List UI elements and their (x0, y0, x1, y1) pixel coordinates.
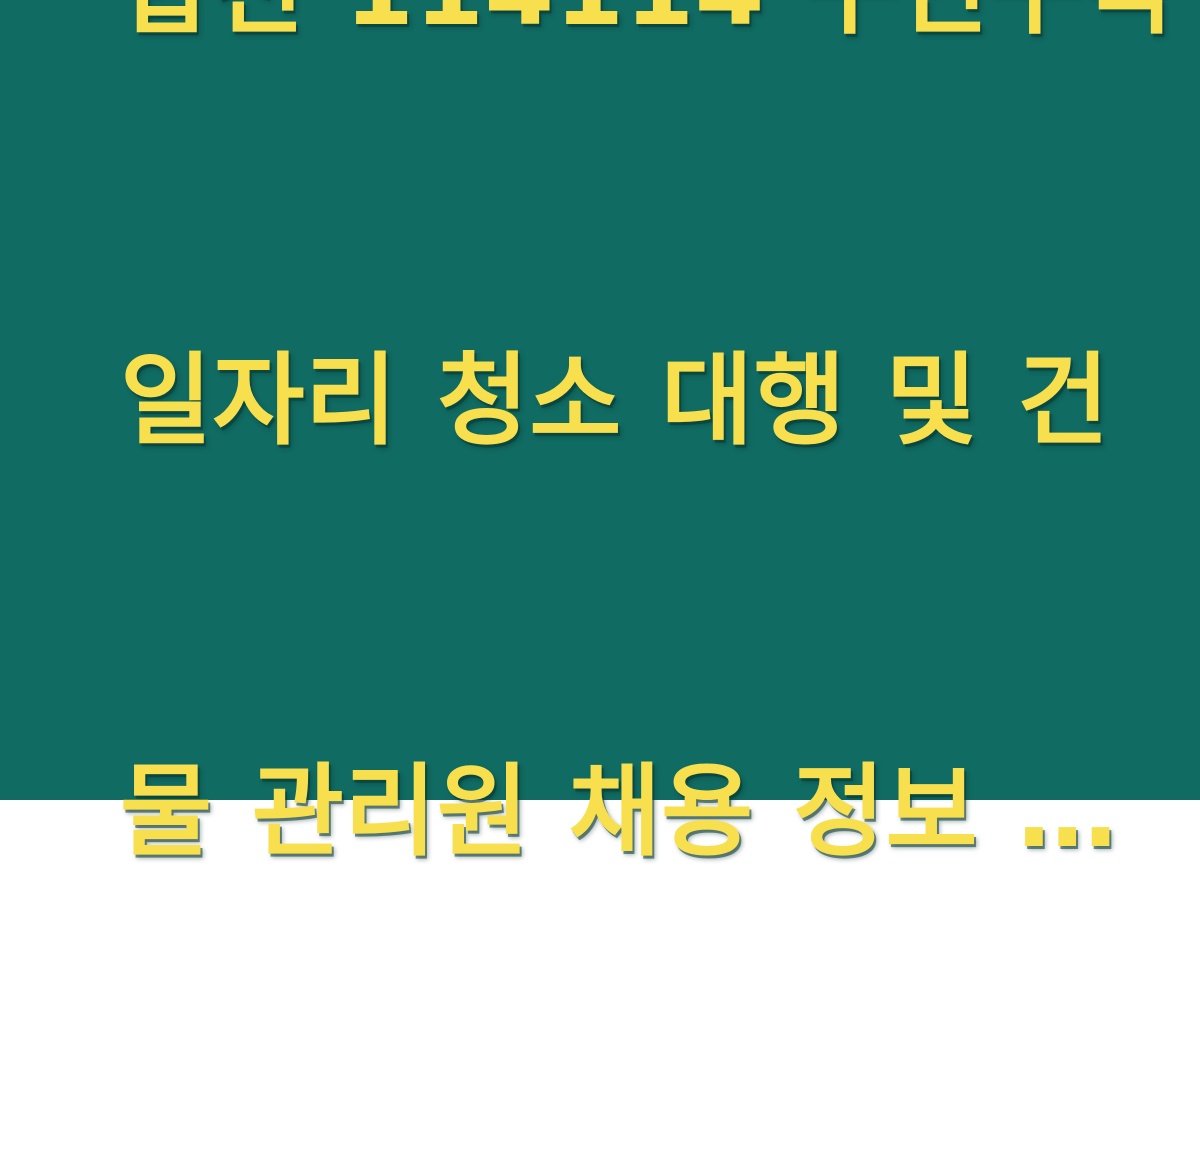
headline-line-3: 물 관리원 채용 정보 … (120, 743, 1080, 880)
headline-line-1: 합천 114114 구인구직 (120, 0, 1080, 58)
headline-line-2: 일자리 청소 대행 및 건 (120, 332, 1080, 469)
page-title: 합천 114114 구인구직 일자리 청소 대행 및 건 물 관리원 채용 정보… (120, 0, 1080, 1154)
thumbnail-card: 합천 114114 구인구직 일자리 청소 대행 및 건 물 관리원 채용 정보… (0, 0, 1200, 800)
